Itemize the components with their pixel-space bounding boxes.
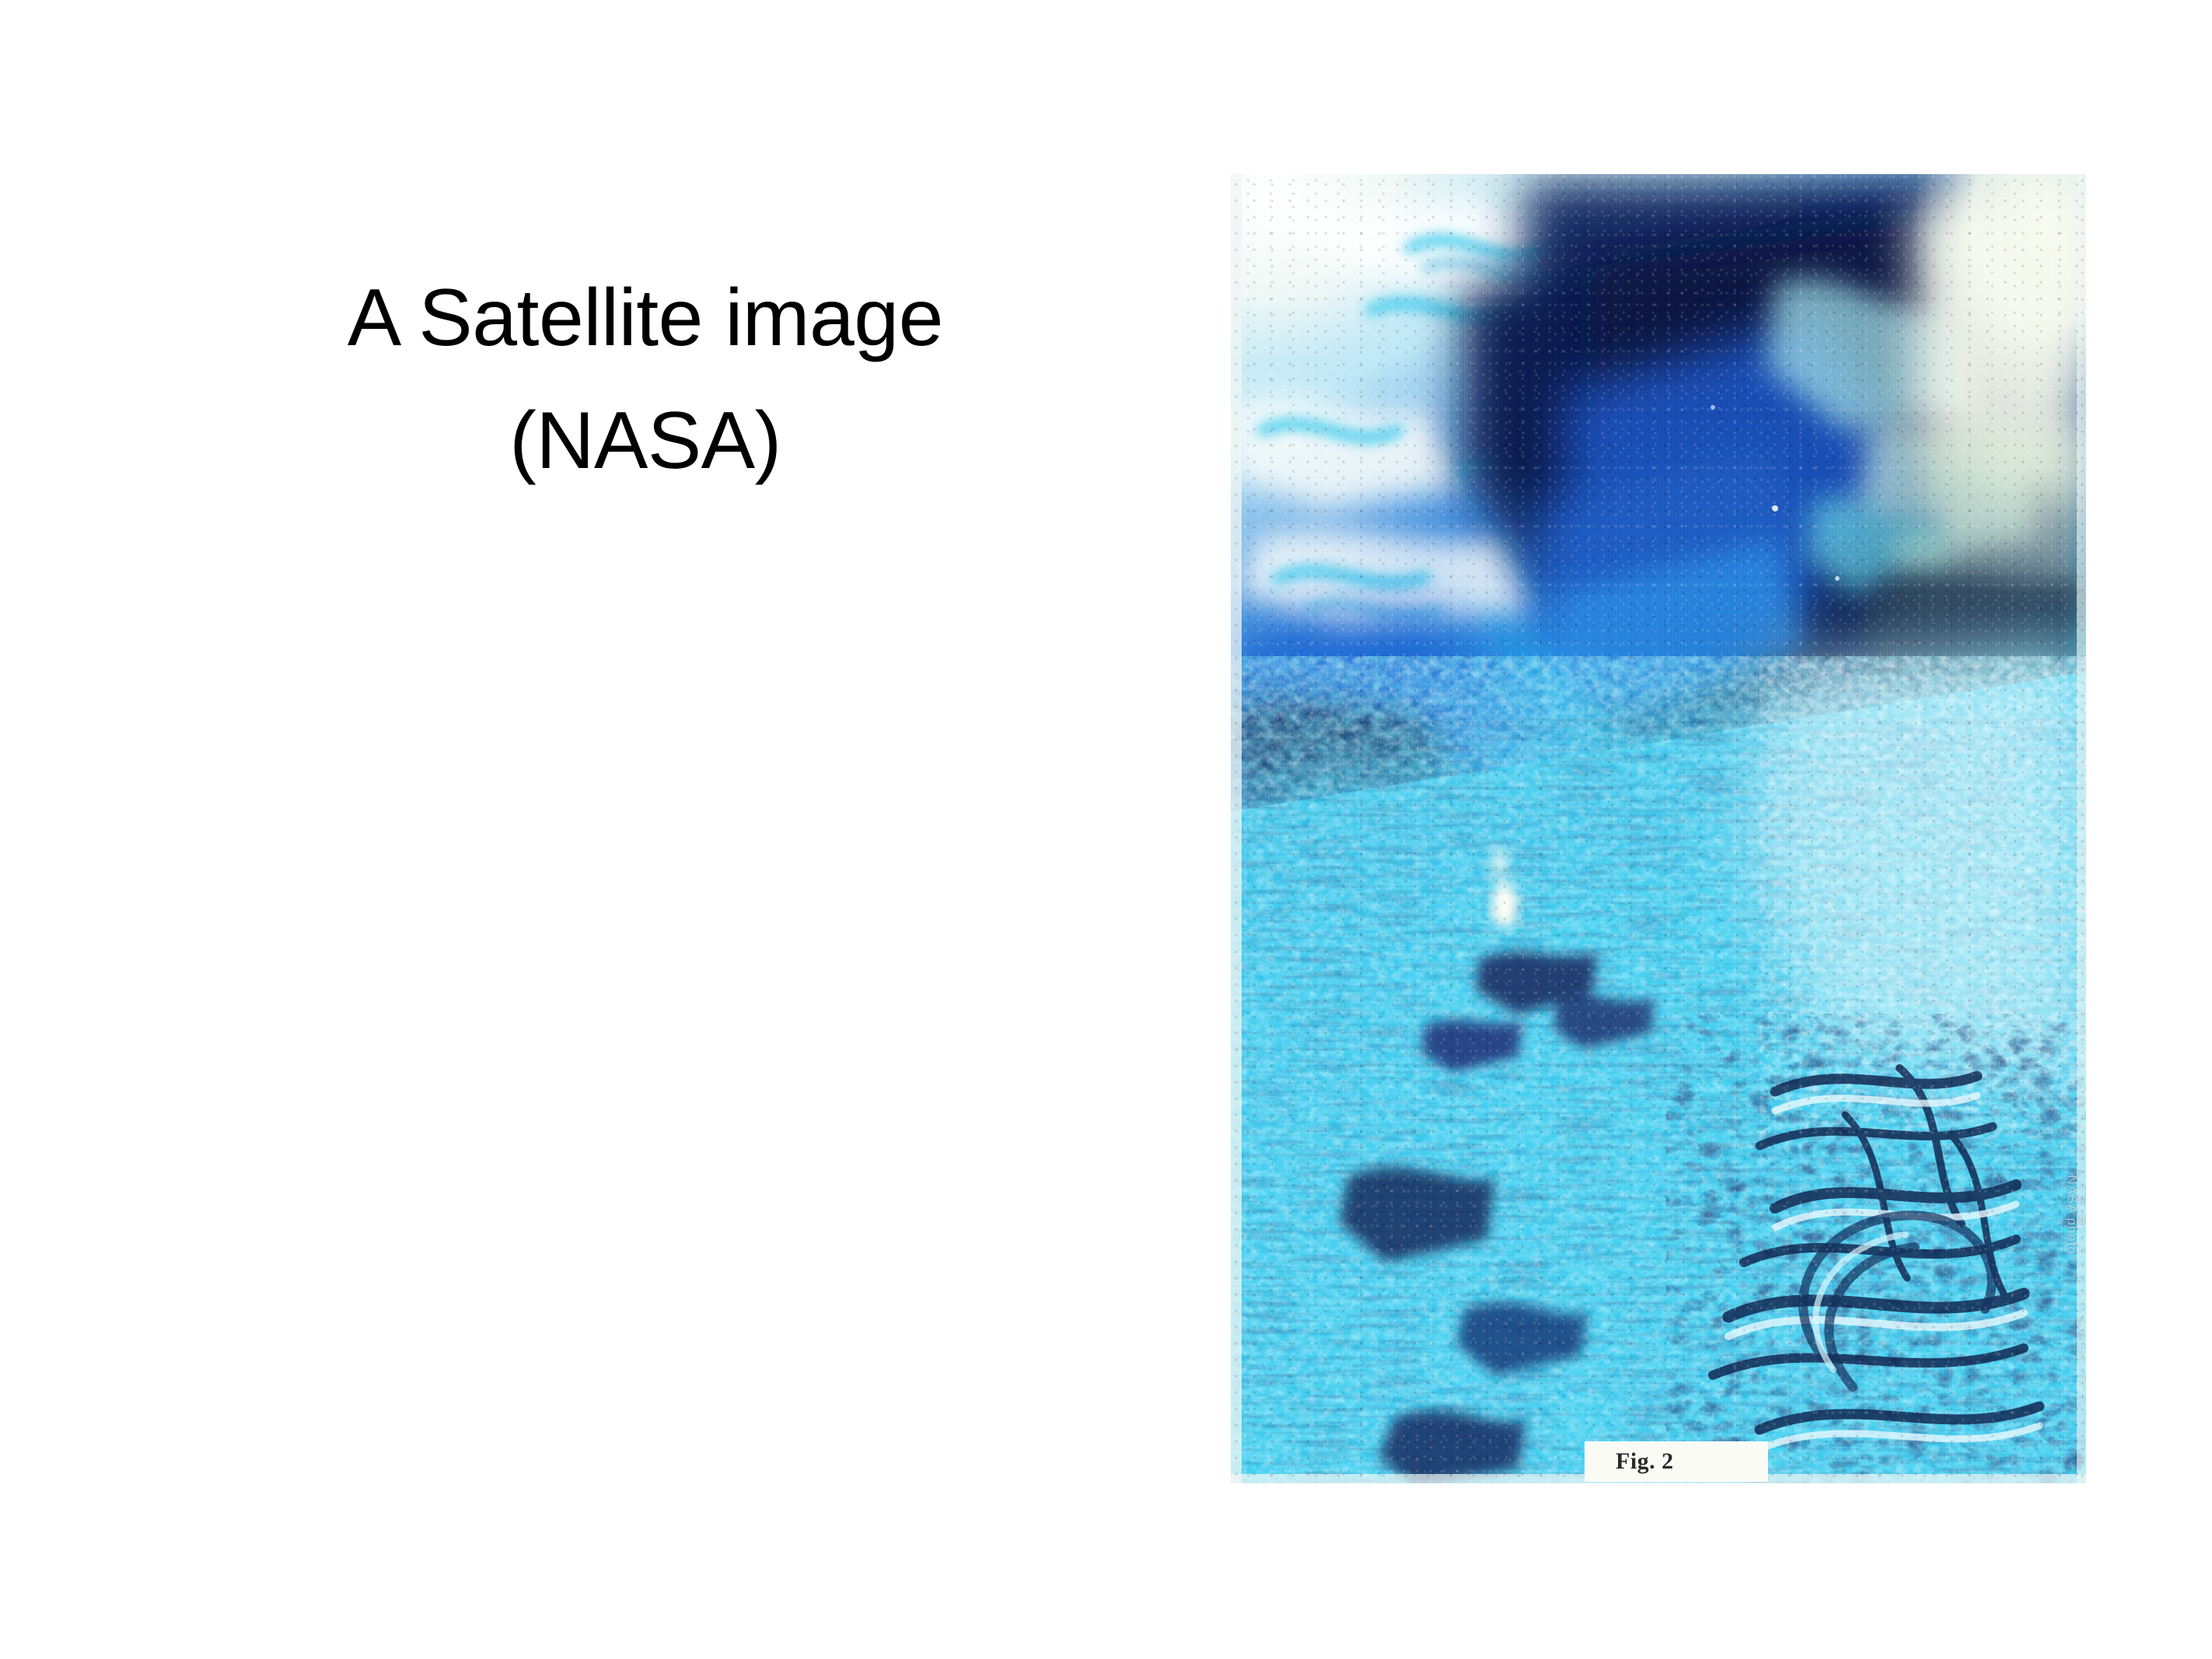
satellite-image-graphic [1231,174,2086,1483]
title-line-secondary: (NASA) [140,379,1151,502]
figure-caption-label: Fig. 2 [1585,1441,1768,1482]
title-line-primary: A Satellite image [140,257,1151,379]
satellite-image [1231,174,2086,1483]
figure-caption-text: Fig. 2 [1616,1448,1674,1475]
satellite-figure: Fig. 2 NASA photo [1231,174,2086,1483]
photo-credit-text: NASA photo [2064,1175,2080,1255]
slide-canvas: A Satellite image (NASA) [0,0,2212,1659]
page-title: A Satellite image (NASA) [140,257,1151,502]
